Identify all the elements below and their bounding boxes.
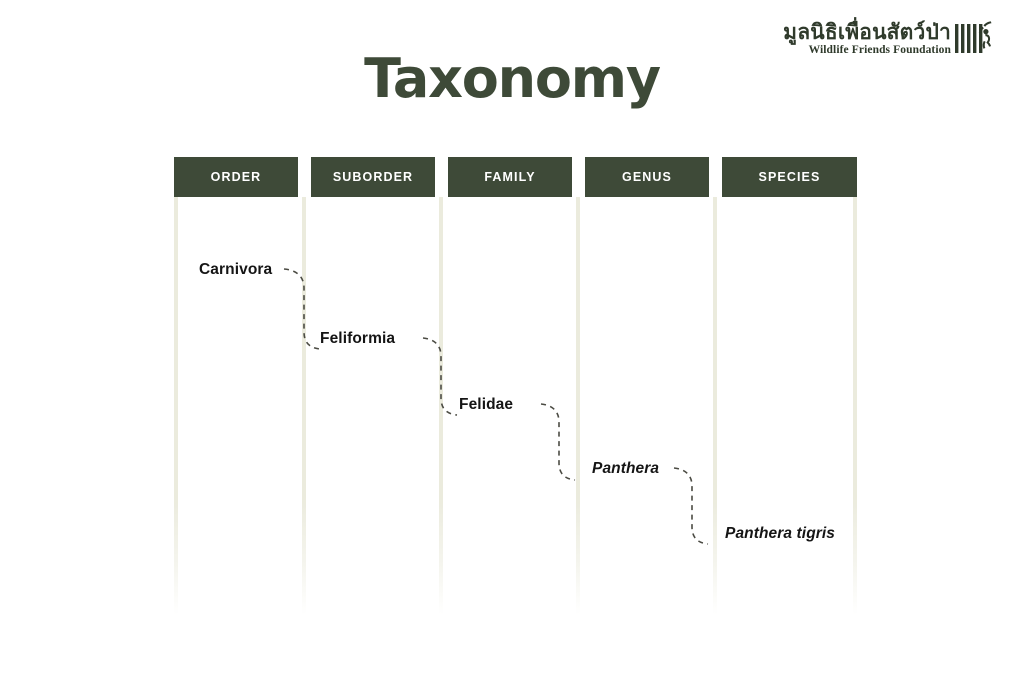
page-title: Taxonomy xyxy=(0,47,1024,110)
connector-suborder-to-family xyxy=(423,338,457,415)
connector-genus-to-species xyxy=(674,468,708,544)
connector-family-to-genus xyxy=(541,404,575,480)
slide-canvas: มูลนิธิเพื่อนสัตว์ป่า Wildlife Friends F… xyxy=(0,0,1024,682)
logo-thai-name: มูลนิธิเพื่อนสัตว์ป่า xyxy=(783,22,951,43)
taxonomy-table: ORDER SUBORDER FAMILY GENUS SPECIES Carn… xyxy=(174,157,857,615)
connector-order-to-suborder xyxy=(284,269,320,349)
connector-lines xyxy=(174,157,857,615)
